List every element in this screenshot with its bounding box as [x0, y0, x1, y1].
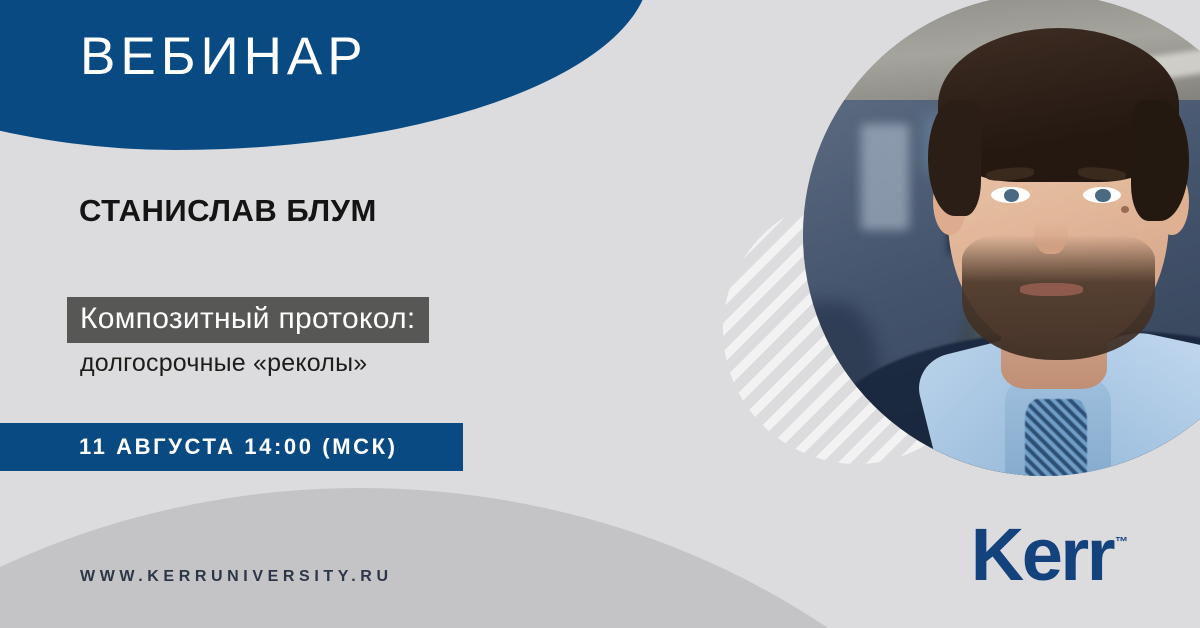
photo-beard [962, 235, 1155, 360]
topic-title: Композитный протокол: [67, 297, 429, 343]
date-banner-text: 11 АВГУСТА 14:00 (МСК) [79, 434, 398, 460]
webinar-poster: ВЕБИНАР [0, 0, 1200, 628]
photo-window [861, 124, 909, 230]
photo-tie [1025, 399, 1088, 476]
kerr-logo-word: Kerr [971, 520, 1113, 590]
photo-hair-left [928, 100, 981, 216]
photo-hair-right [1131, 100, 1189, 221]
website-url[interactable]: WWW.KERRUNIVERSITY.RU [80, 568, 393, 586]
speaker-photo [803, 0, 1200, 476]
date-banner: 11 АВГУСТА 14:00 (МСК) [0, 423, 463, 471]
photo-pupil-right [1095, 189, 1110, 202]
speaker-photo-content [803, 0, 1200, 476]
topic-subtitle: долгосрочные «реколы» [80, 349, 367, 378]
photo-mole [1121, 206, 1129, 213]
kerr-logo: Kerr ™ [971, 520, 1128, 590]
photo-mouth [1020, 283, 1083, 296]
trademark-icon: ™ [1115, 534, 1128, 549]
photo-pupil-left [1004, 189, 1019, 202]
webinar-label: ВЕБИНАР [80, 30, 368, 83]
bottom-arc-decoration [0, 488, 1140, 628]
photo-nose [1034, 201, 1068, 254]
speaker-name: СТАНИСЛАВ БЛУМ [79, 193, 377, 229]
